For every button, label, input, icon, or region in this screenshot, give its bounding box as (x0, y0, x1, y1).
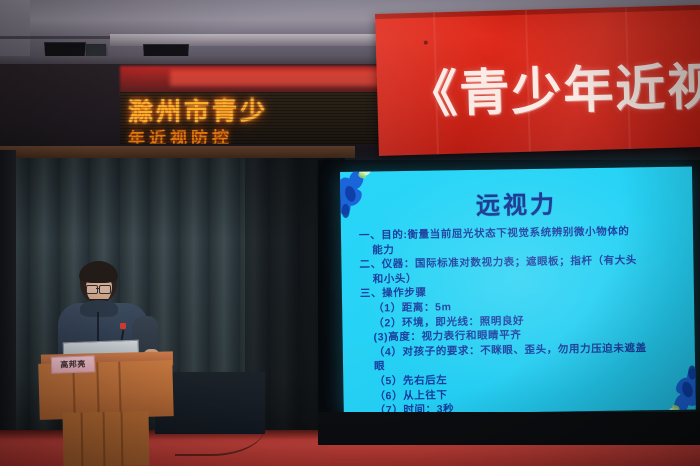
auditorium-scene: 滁州市青少 年近视防控 《青少年近视防控 (0, 0, 700, 466)
led-sign-line-2: 年近视防控 (128, 121, 420, 144)
led-housing-glow-core (170, 70, 380, 86)
projection-screen[interactable]: 远视力 一、目的:衡量当前屈光状态下视觉系统辨别微小物体的 能力 二、仪器：国际… (340, 166, 696, 414)
side-pillar (0, 150, 16, 450)
podium-wood-grain (96, 362, 99, 418)
nameplate-text: 高邦亮 (52, 357, 94, 371)
glasses-icon (86, 285, 98, 294)
curtain-rail (0, 146, 355, 158)
jacket-badge (120, 323, 126, 329)
slide-title: 远视力 (340, 182, 693, 223)
speaker-collar (80, 300, 118, 317)
podium-wood-grain (81, 412, 84, 466)
red-event-banner: 《青少年近视防控 (375, 5, 700, 156)
podium-wood-grain (121, 412, 124, 466)
podium-base (63, 411, 150, 466)
banner-sheen (375, 5, 700, 156)
glasses-icon (99, 285, 111, 294)
led-scrolling-sign: 滁州市青少 年近视防控 (120, 92, 420, 144)
projection-screen-stand (318, 412, 700, 445)
podium-wood-grain (103, 412, 106, 466)
ceiling-left-wall (0, 0, 30, 56)
glasses-bridge (96, 288, 100, 289)
podium-wood-grain (118, 362, 121, 418)
slide-body: 一、目的:衡量当前屈光状态下视觉系统辨别微小物体的 能力 二、仪器：国际标准对数… (359, 224, 684, 415)
podium-nameplate: 高邦亮 (51, 355, 96, 374)
